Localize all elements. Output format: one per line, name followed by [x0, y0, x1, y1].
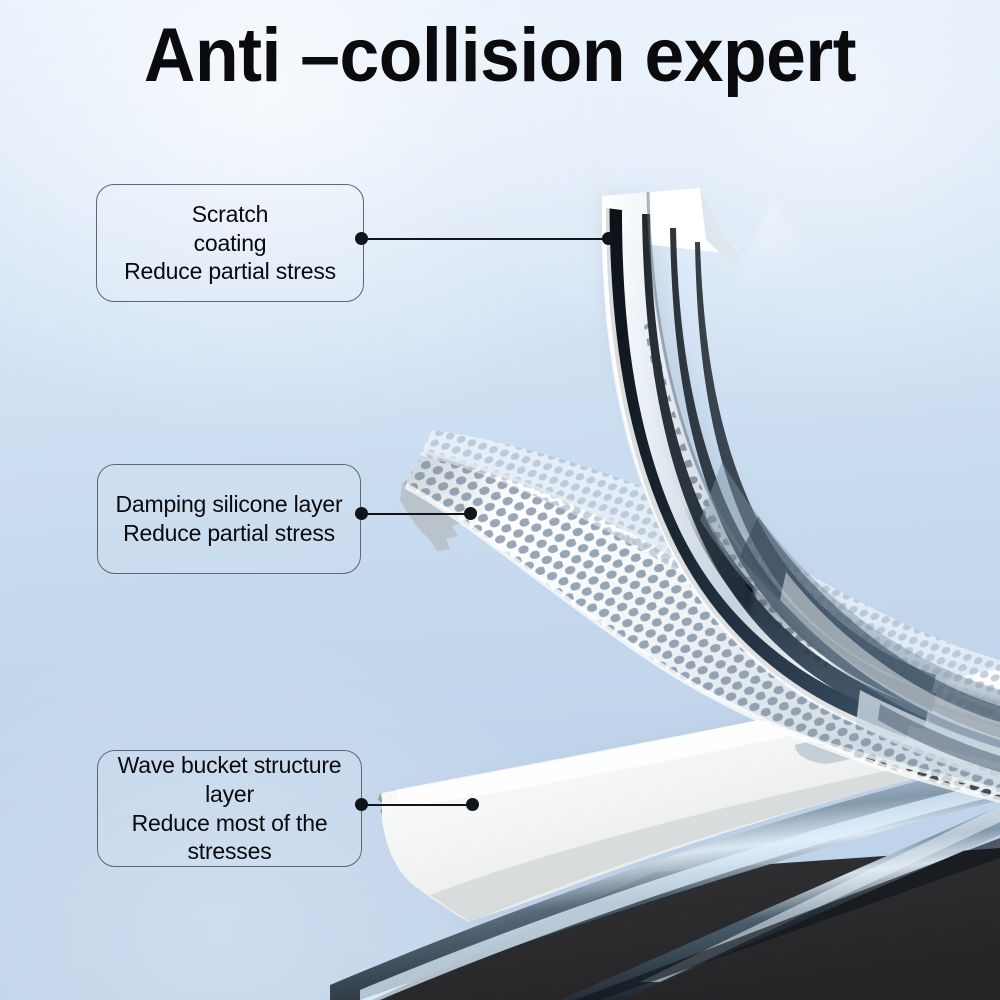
callout-scratch-coating: Scratch coating Reduce partial stress [96, 184, 364, 302]
callout-damping-silicone-layer-text: Damping silicone layer Reduce partial st… [106, 490, 352, 547]
ghost-glass-shard [733, 200, 828, 286]
product-poster: Anti –collision expert Scratch coating R… [0, 0, 1000, 1000]
page-title: Anti –collision expert [30, 18, 970, 94]
callout-damping-silicone-layer: Damping silicone layer Reduce partial st… [97, 464, 361, 574]
callout-wave-bucket-structure-layer: Wave bucket structure layer Reduce most … [97, 750, 362, 867]
callout-wave-bucket-structure-layer-text: Wave bucket structure layer Reduce most … [106, 751, 353, 865]
callout-scratch-coating-text: Scratch coating Reduce partial stress [105, 200, 355, 286]
